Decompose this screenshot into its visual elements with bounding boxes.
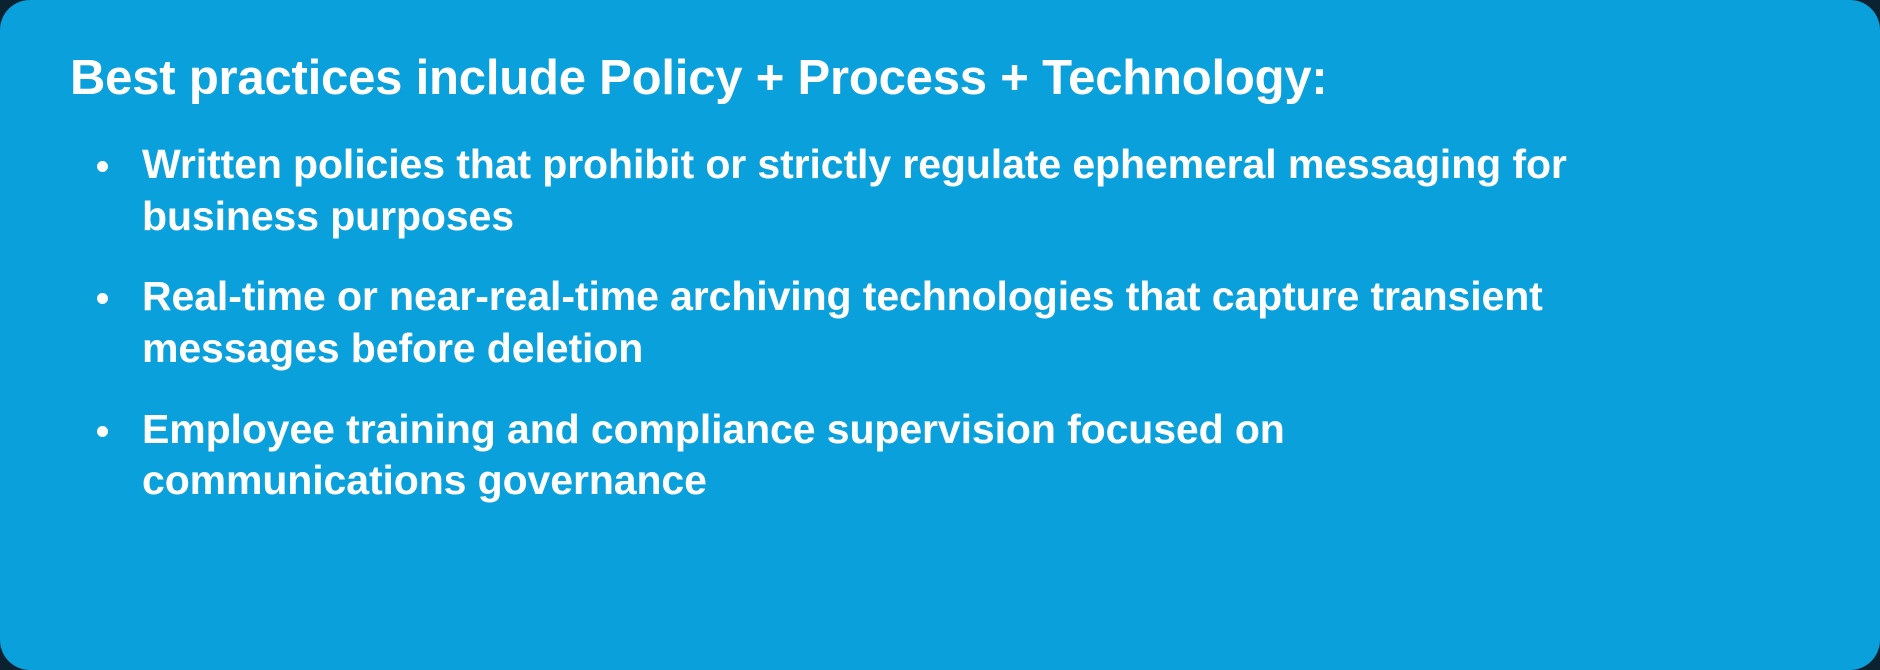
bullet-dot-icon	[97, 426, 108, 437]
bullet-dot-icon	[97, 293, 108, 304]
list-item: Real-time or near-real-time archiving te…	[70, 271, 1810, 374]
bullet-dot-icon	[97, 161, 108, 172]
slide-card: Best practices include Policy + Process …	[0, 0, 1880, 670]
list-item-text: Written policies that prohibit or strict…	[142, 139, 1612, 242]
list-item-text: Real-time or near-real-time archiving te…	[142, 271, 1612, 374]
list-item-text: Employee training and compliance supervi…	[142, 404, 1612, 507]
slide-heading: Best practices include Policy + Process …	[70, 52, 1810, 105]
list-item: Employee training and compliance supervi…	[70, 404, 1810, 507]
bullet-list: Written policies that prohibit or strict…	[70, 139, 1810, 507]
list-item: Written policies that prohibit or strict…	[70, 139, 1810, 242]
